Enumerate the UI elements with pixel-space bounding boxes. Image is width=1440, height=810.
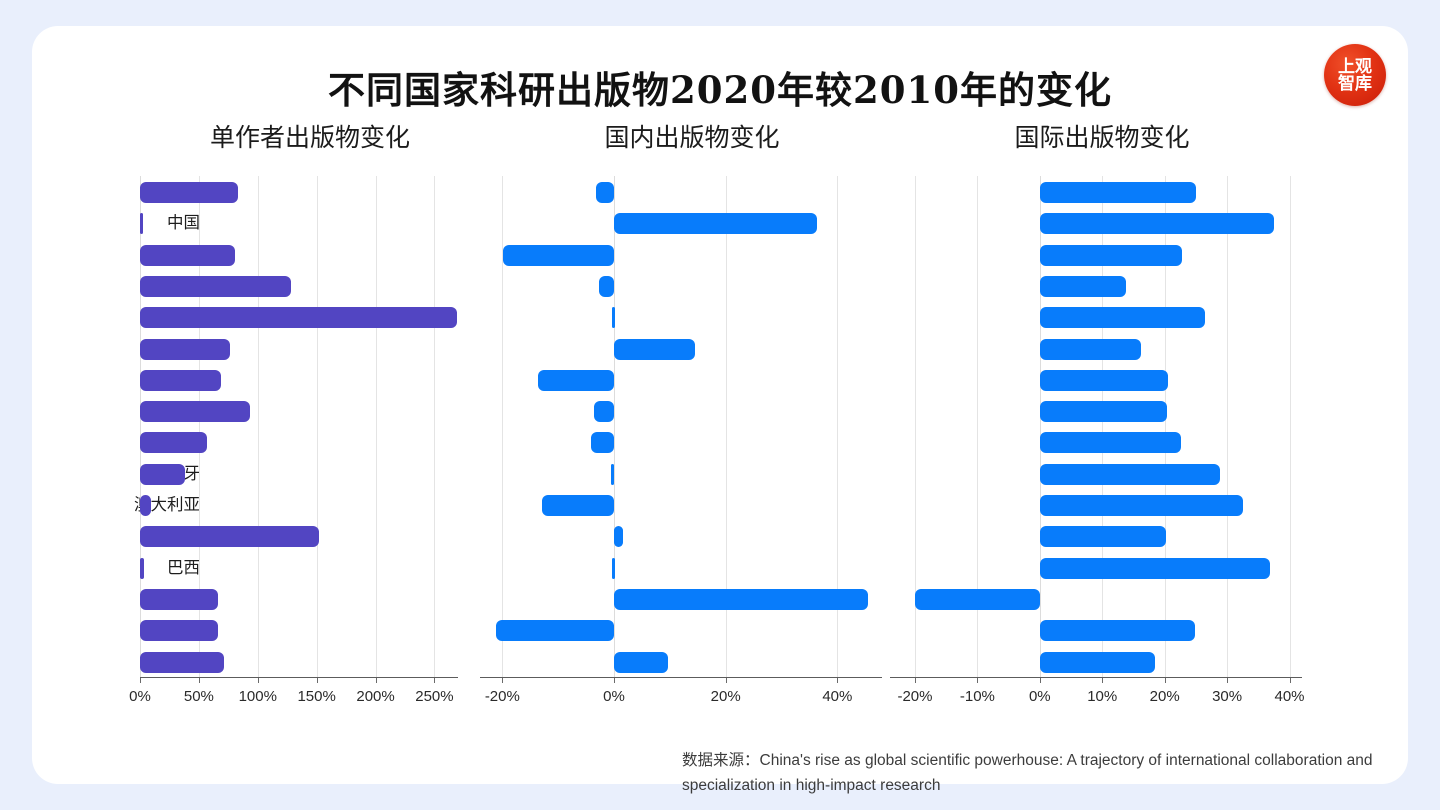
x-axis-label-0%: 0% [603,688,625,705]
bar-德国 [1040,276,1126,297]
bar-荷兰 [140,620,218,641]
x-axis-label-250%: 250% [415,688,453,705]
bar-印度 [1040,339,1141,360]
gridline-200% [376,176,377,677]
x-axis-label-20%: 20% [1150,688,1180,705]
bar-西班牙 [1040,464,1220,485]
gridline-100% [258,176,259,677]
bar-巴西 [140,558,144,579]
bar-法国 [140,370,221,391]
panel-title-3: 国际出版物变化 [892,118,1312,154]
gridline-40% [1290,176,1291,677]
page-root: 上观 智库 不同国家科研出版物2020年较2010年的变化 单作者出版物变化美国… [0,0,1440,810]
bar-美国 [140,182,238,203]
bar-法国 [1040,370,1168,391]
bar-日本 [1040,307,1205,328]
bar-俄罗斯 [614,589,868,610]
x-axis-label--10%: -10% [960,688,995,705]
bar-意大利 [1040,401,1167,422]
x-axis-label-40%: 40% [1274,688,1304,705]
plot-area-2: -20%0%20%40% [480,176,882,677]
bar-全球的 [140,652,224,673]
gridline-250% [434,176,435,677]
bar-澳大利亚 [542,495,614,516]
x-axis-label--20%: -20% [897,688,932,705]
bar-日本 [140,307,457,328]
bar-印度 [140,339,230,360]
chart-card: 上观 智库 不同国家科研出版物2020年较2010年的变化 单作者出版物变化美国… [32,26,1408,784]
bar-英国 [1040,245,1182,266]
gridline-150% [317,176,318,677]
bar-西班牙 [140,464,185,485]
x-axis-label-10%: 10% [1087,688,1117,705]
bar-澳大利亚 [1040,495,1244,516]
x-axis-label-50%: 50% [184,688,214,705]
x-axis-line-3 [890,677,1302,678]
bar-日本 [612,307,615,328]
bar-中国 [140,213,143,234]
bar-加拿大 [1040,432,1181,453]
x-axis-label-100%: 100% [239,688,277,705]
bar-俄罗斯 [915,589,1040,610]
bar-中国 [1040,213,1274,234]
bar-澳大利亚 [140,495,151,516]
bar-德国 [140,276,291,297]
chart-panel-3: -20%-10%0%10%20%30%40% [916,176,1332,696]
panel-title-1: 单作者出版物变化 [100,118,520,154]
x-axis-label-40%: 40% [822,688,852,705]
source-note: 数据来源：China's rise as global scientific p… [682,748,1402,798]
bar-印度 [614,339,695,360]
bar-加拿大 [140,432,207,453]
bar-全球的 [614,652,668,673]
bar-法国 [538,370,614,391]
page-title: 不同国家科研出版物2020年较2010年的变化 [32,60,1408,114]
bar-意大利 [594,401,614,422]
bar-美国 [1040,182,1196,203]
x-axis-label-0%: 0% [129,688,151,705]
chart-panel-1: 美国中国英国德国日本印度法国意大利加拿大西班牙澳大利亚韩国巴西俄罗斯荷兰全球的0… [100,176,488,696]
bar-西班牙 [611,464,614,485]
plot-area-3: -20%-10%0%10%20%30%40% [890,176,1302,677]
bar-英国 [140,245,235,266]
chart-panel-2: -20%0%20%40% [502,176,912,696]
bar-德国 [599,276,614,297]
x-axis-label-150%: 150% [297,688,335,705]
bar-巴西 [1040,558,1270,579]
x-axis-line-2 [480,677,882,678]
gridline-30% [1227,176,1228,677]
bar-荷兰 [496,620,614,641]
x-axis-label-20%: 20% [711,688,741,705]
bar-荷兰 [1040,620,1195,641]
x-axis-label--20%: -20% [485,688,520,705]
bar-意大利 [140,401,250,422]
x-axis-line-1 [140,677,458,678]
panel-title-2: 国内出版物变化 [482,118,902,154]
bar-巴西 [612,558,615,579]
bar-英国 [503,245,614,266]
plot-area-1: 0%50%100%150%200%250% [140,176,458,677]
bar-全球的 [1040,652,1155,673]
bar-韩国 [1040,526,1166,547]
bar-中国 [614,213,817,234]
x-axis-label-0%: 0% [1029,688,1051,705]
bar-美国 [596,182,614,203]
bar-俄罗斯 [140,589,218,610]
bar-加拿大 [591,432,614,453]
x-axis-label-30%: 30% [1212,688,1242,705]
x-axis-label-200%: 200% [356,688,394,705]
bar-韩国 [614,526,623,547]
bar-韩国 [140,526,319,547]
